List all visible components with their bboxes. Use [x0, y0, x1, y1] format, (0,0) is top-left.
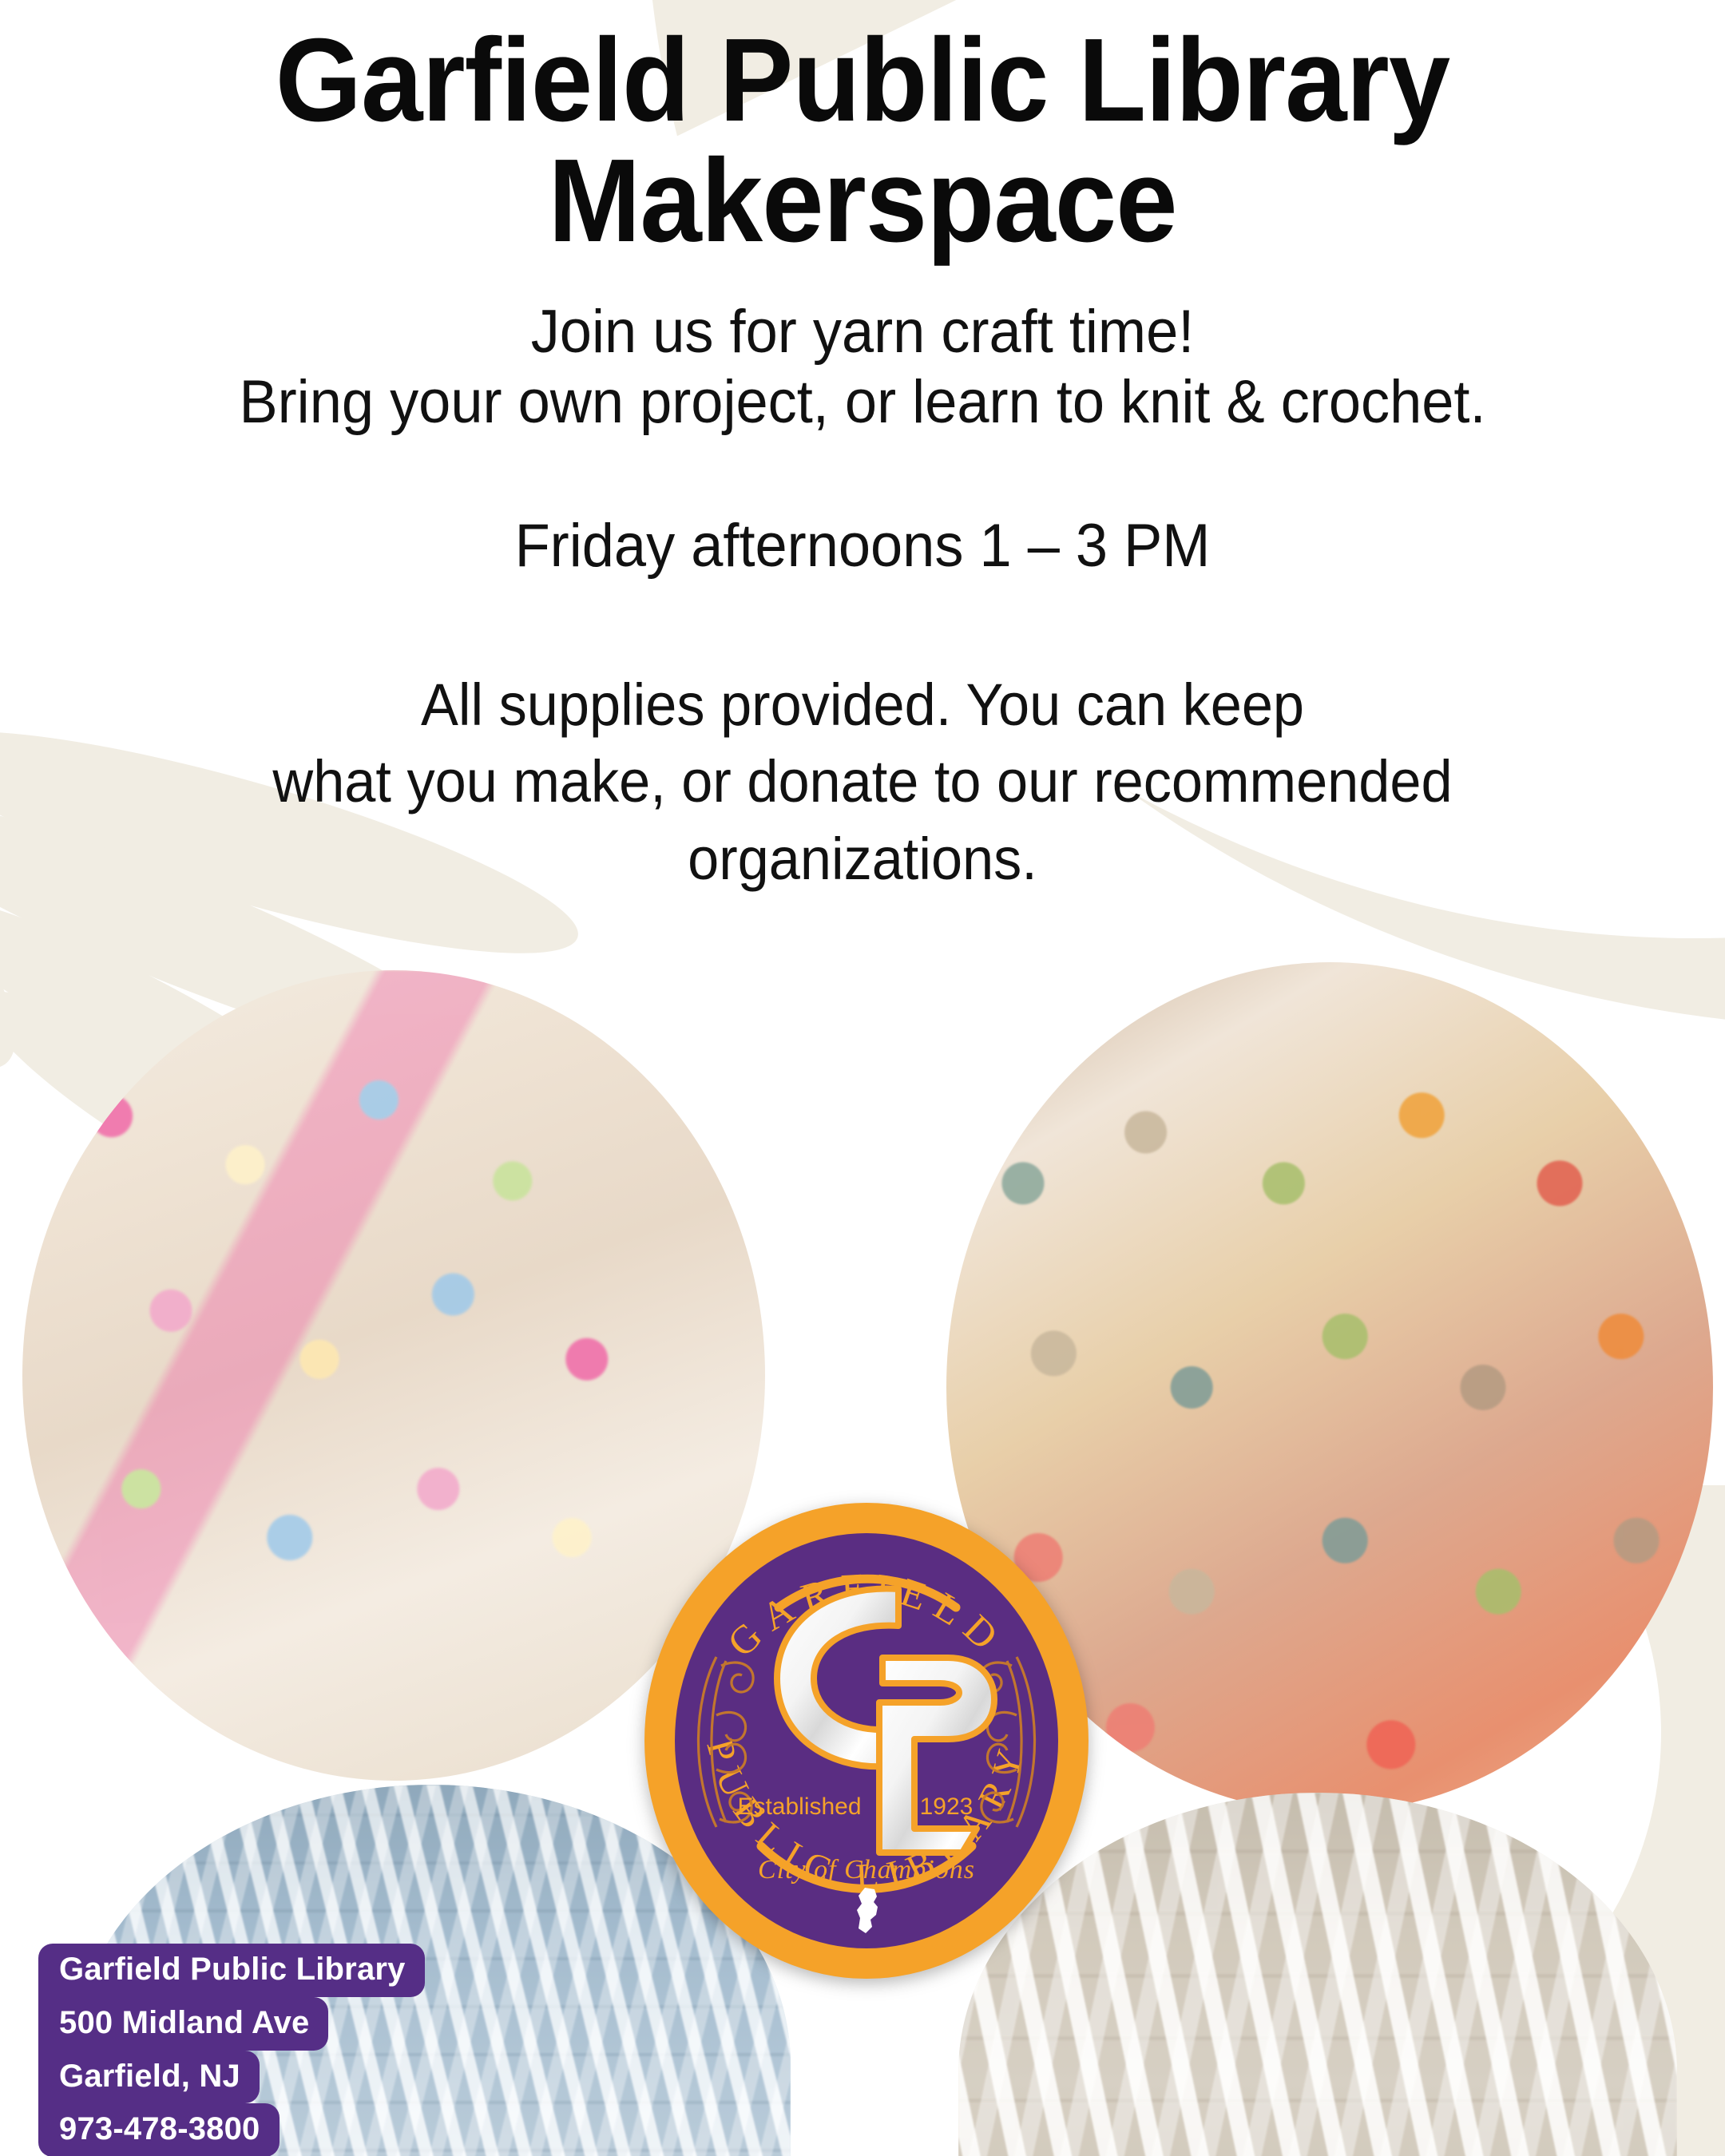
- address-badge: Garfield Public Library 500 Midland Ave …: [38, 1944, 425, 2156]
- library-logo-seal: GARFIELD PUBLIC LIBRARY: [643, 1501, 1090, 1980]
- supplies-line-1: All supplies provided. You can keep: [43, 667, 1682, 743]
- seal-motto: City of Champions: [758, 1855, 975, 1885]
- intro-text: Join us for yarn craft time! Bring your …: [43, 262, 1682, 438]
- supplies-text: All supplies provided. You can keep what…: [43, 581, 1682, 898]
- address-line-city-state: Garfield, NJ: [38, 2051, 260, 2104]
- poster-text-block: Garfield Public Library Makerspace Join …: [0, 0, 1725, 898]
- address-line-library-name: Garfield Public Library: [38, 1944, 425, 1997]
- intro-line-1: Join us for yarn craft time!: [43, 297, 1682, 367]
- intro-line-2: Bring your own project, or learn to knit…: [43, 367, 1682, 438]
- seal-established-year: 1923: [920, 1793, 974, 1820]
- title-line-2: Makerspace: [52, 141, 1673, 262]
- address-line-phone: 973-478-3800: [38, 2103, 280, 2156]
- schedule-text: Friday afternoons 1 – 3 PM: [43, 438, 1682, 581]
- seal-established-label: Established: [737, 1793, 861, 1820]
- address-line-street: 500 Midland Ave: [38, 1997, 328, 2051]
- supplies-line-3: organizations.: [43, 821, 1682, 898]
- title-line-1: Garfield Public Library: [276, 14, 1449, 146]
- flyer-poster: Garfield Public Library Makerspace Join …: [0, 0, 1725, 2156]
- supplies-line-2: what you make, or donate to our recommen…: [43, 743, 1682, 820]
- page-title: Garfield Public Library Makerspace: [52, 0, 1673, 262]
